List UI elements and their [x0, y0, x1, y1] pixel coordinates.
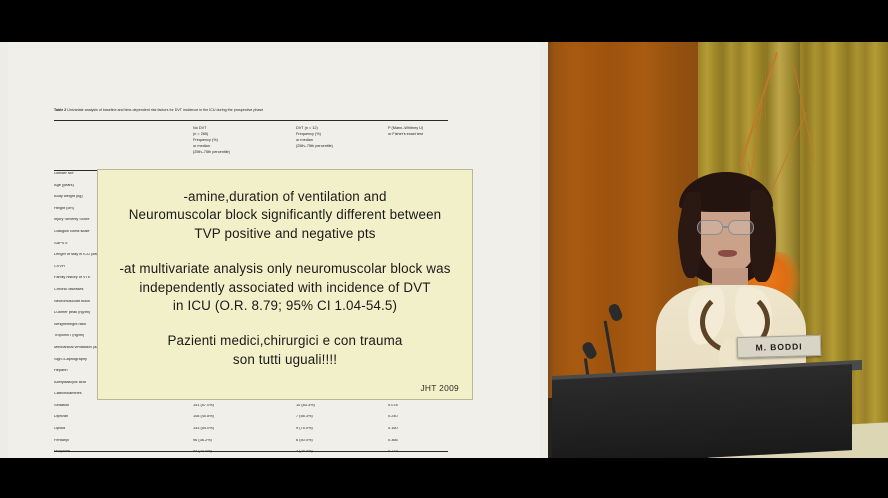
speaker-hair-left: [679, 192, 701, 278]
overlay-line-2: Neuromuscolar block significantly differ…: [98, 206, 472, 224]
slide-panel: Table 2 Univariate analysis of baseline …: [0, 42, 548, 458]
speaker-glasses: [697, 220, 763, 235]
table-column-header-pvalue: P (Mann–Whitney U) or Fisher's exact tes…: [388, 126, 478, 138]
overlay-textbox: -amine,duration of ventilation and Neuro…: [97, 169, 473, 400]
table-cell: Sedation: [54, 404, 189, 408]
overlay-line-8: son tutti uguali!!!!: [98, 351, 472, 369]
table-row: Opioid143 (54.0%)9 (75.0%)0.160: [54, 427, 448, 439]
table-row: Diprivan108 (40.8%)7 (58.3%)0.240: [54, 415, 448, 427]
table-cell: Diprivan: [54, 415, 189, 419]
overlay-line-3: TVP positive and negative pts: [98, 225, 472, 243]
table-cell: 0.240: [388, 415, 448, 419]
table-cell: 96 (36.2%): [193, 439, 293, 443]
table-cell: 6 (50.0%): [296, 439, 396, 443]
glasses-lens-left: [697, 220, 723, 235]
podium: [552, 364, 852, 458]
overlay-line-7: Pazienti medici,chirurgici e con trauma: [98, 332, 472, 350]
table-caption-text: Univariate analysis of baseline and time…: [67, 108, 263, 112]
overlay-line-6: in ICU (O.R. 8.79; 95% CI 1.04-54.5): [98, 297, 472, 315]
table-column-header-no-dvt: No DVT (n = 265) Frequency (%) or median…: [193, 126, 303, 155]
table-cell: Opioid: [54, 427, 189, 431]
table-rule-bottom: [54, 451, 448, 452]
overlay-spacer-1: [98, 243, 472, 260]
table-cell: 0.160: [388, 427, 448, 431]
table-caption-label: Table 2: [54, 108, 66, 112]
table-row: Fentanyl96 (36.2%)6 (50.0%)0.366: [54, 439, 448, 451]
overlay-credit: JHT 2009: [420, 383, 459, 393]
table-cell: Fentanyl: [54, 439, 189, 443]
overlay-line-5: independently associated with incidence …: [98, 279, 472, 297]
glasses-lens-right: [728, 220, 754, 235]
table-cell: 10 (83.3%): [296, 404, 396, 408]
speaker-video-panel: ★ ★ ★ ★ VALDARNO M. BODDI: [548, 42, 888, 458]
table-cell: 108 (40.8%): [193, 415, 293, 419]
screen-root: Table 2 Univariate analysis of baseline …: [0, 0, 888, 498]
table-cell: 9 (75.0%): [296, 427, 396, 431]
speaker-nameplate: M. BODDI: [737, 335, 822, 358]
table-cell: 151 (57.0%): [193, 404, 293, 408]
table-cell: 7 (58.3%): [296, 415, 396, 419]
speaker-mouth: [718, 250, 737, 257]
overlay-line-4: -at multivariate analysis only neuromusc…: [98, 260, 472, 278]
table-rule-top: [54, 120, 448, 121]
glasses-bridge: [723, 226, 728, 228]
speaker-nameplate-text: M. BODDI: [755, 341, 802, 352]
table-cell: 0.078: [388, 404, 448, 408]
table-cell: 143 (54.0%): [193, 427, 293, 431]
slide-content: Table 2 Univariate analysis of baseline …: [8, 42, 540, 458]
table-cell: 0.366: [388, 439, 448, 443]
overlay-line-1: -amine,duration of ventilation and: [98, 188, 472, 206]
overlay-spacer-2: [98, 315, 472, 332]
table-row: Sedation151 (57.0%)10 (83.3%)0.078: [54, 404, 448, 416]
table-caption: Table 2 Univariate analysis of baseline …: [54, 108, 454, 112]
